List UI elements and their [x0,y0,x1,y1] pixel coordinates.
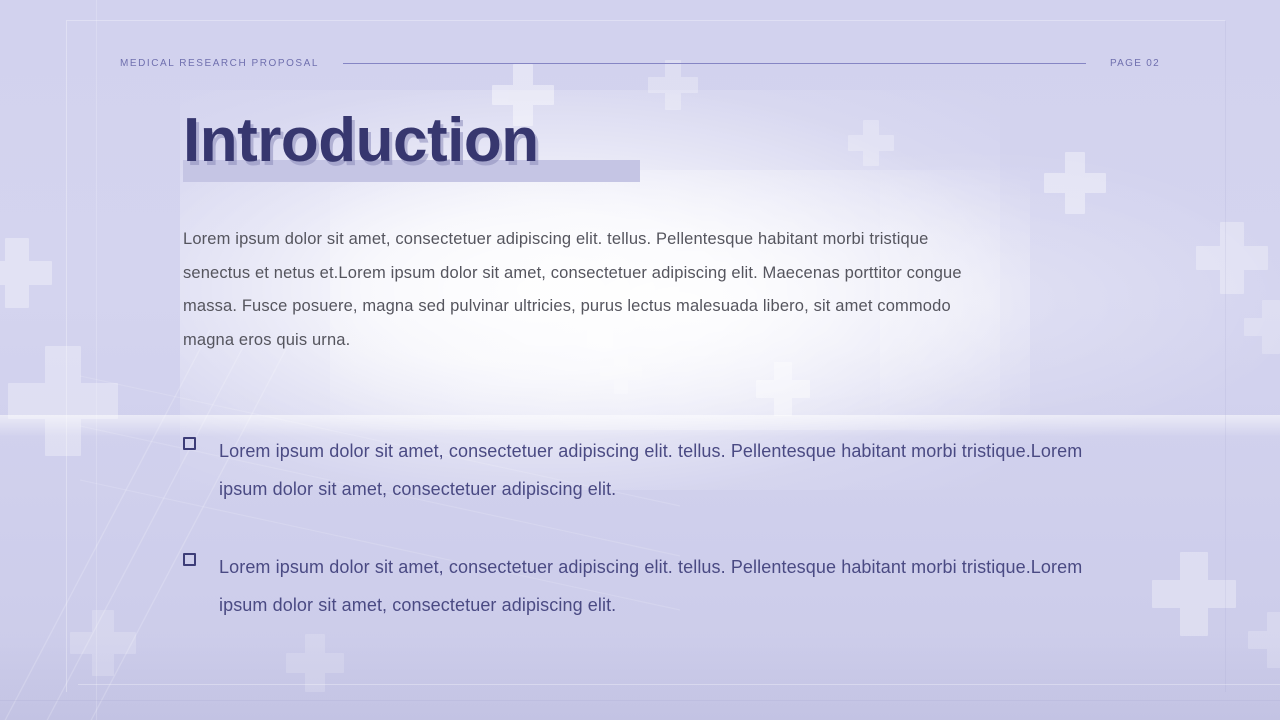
medical-cross-icon [1152,552,1236,636]
medical-cross-icon [70,610,136,676]
list-item-text: Lorem ipsum dolor sit amet, consectetuer… [219,441,1082,499]
page-title: Introduction [183,108,539,173]
page-number-label: PAGE 02 [1110,58,1160,69]
list-item-text: Lorem ipsum dolor sit amet, consectetuer… [219,557,1082,615]
hollow-square-bullet-icon [183,437,196,450]
medical-cross-icon [756,362,810,416]
medical-cross-icon [286,634,344,692]
hollow-square-bullet-icon [183,553,196,566]
document-kicker-label: MEDICAL RESEARCH PROPOSAL [120,58,319,69]
medical-cross-icon [0,238,52,308]
slide-baseline-upper [78,684,1280,685]
header-divider-rule [343,63,1086,64]
background-band-bottom [0,636,1280,720]
medical-cross-icon [1248,612,1280,668]
title-block: Introduction [183,108,883,188]
bullet-list: Lorem ipsum dolor sit amet, consectetuer… [183,432,1088,624]
slide-baseline-lower [0,700,1280,701]
slide-header: MEDICAL RESEARCH PROPOSAL PAGE 02 [120,54,1160,72]
slide-canvas: MEDICAL RESEARCH PROPOSAL PAGE 02 Introd… [0,0,1280,720]
medical-cross-icon [1044,152,1106,214]
list-item: Lorem ipsum dolor sit amet, consectetuer… [183,432,1088,508]
medical-cross-icon [1244,300,1280,354]
list-item: Lorem ipsum dolor sit amet, consectetuer… [183,548,1088,624]
medical-cross-icon [8,346,118,456]
intro-paragraph: Lorem ipsum dolor sit amet, consectetuer… [183,223,983,357]
medical-cross-icon [600,352,642,394]
medical-cross-icon [1196,222,1268,294]
